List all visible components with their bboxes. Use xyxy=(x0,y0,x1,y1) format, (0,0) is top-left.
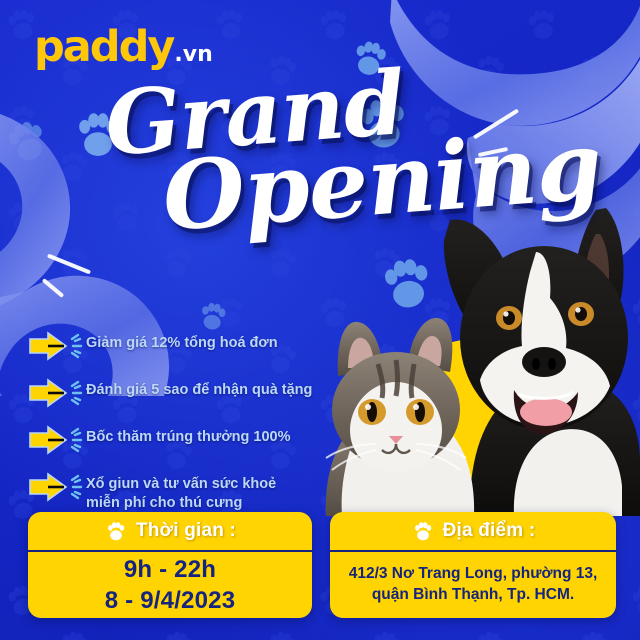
benefit-label: Xổ giun và tư vấn sức khoẻ miễn phí cho … xyxy=(86,471,276,513)
page-title: Grand Opening xyxy=(103,56,543,240)
time-card: Thời gian : 9h - 22h 8 - 9/4/2023 xyxy=(28,512,312,618)
place-card: Địa điểm : 412/3 Nơ Trang Long, phường 1… xyxy=(330,512,616,618)
list-item: Đánh giá 5 sao để nhận quà tặng xyxy=(28,377,348,408)
arrow-sparkle-icon xyxy=(28,331,86,361)
list-item: Xổ giun và tư vấn sức khoẻ miễn phí cho … xyxy=(28,471,348,513)
arrow-sparkle-icon xyxy=(28,378,86,408)
logo-wordmark: paddy xyxy=(34,26,173,69)
poster-canvas: paddy .vn Grand Opening Giảm giá 12% tổn… xyxy=(0,0,640,640)
time-card-title: Thời gian : xyxy=(136,520,236,542)
brand-logo[interactable]: paddy .vn xyxy=(34,26,213,69)
benefit-label: Giảm giá 12% tổng hoá đơn xyxy=(86,330,278,353)
arrow-sparkle-icon xyxy=(28,425,86,455)
address-line-2: quận Bình Thạnh, Tp. HCM. xyxy=(372,586,574,605)
list-item: Giảm giá 12% tổng hoá đơn xyxy=(28,330,348,361)
arrow-sparkle-icon xyxy=(28,472,86,502)
benefits-list: Giảm giá 12% tổng hoá đơn Đánh giá 5 sao… xyxy=(28,330,348,529)
time-hours: 9h - 22h xyxy=(124,555,216,584)
list-item: Bốc thăm trúng thưởng 100% xyxy=(28,424,348,455)
time-card-header: Thời gian : xyxy=(28,512,312,552)
place-card-title: Địa điểm : xyxy=(443,520,536,542)
place-card-body: 412/3 Nơ Trang Long, phường 13, quận Bìn… xyxy=(330,552,616,618)
headline-line-2: Opening xyxy=(160,132,543,237)
paw-icon xyxy=(411,520,435,542)
accent-paw-icon xyxy=(194,298,232,334)
place-card-header: Địa điểm : xyxy=(330,512,616,552)
time-dates: 8 - 9/4/2023 xyxy=(105,586,236,615)
benefit-label: Bốc thăm trúng thưởng 100% xyxy=(86,424,291,447)
benefit-label: Đánh giá 5 sao để nhận quà tặng xyxy=(86,377,312,400)
address-line-1: 412/3 Nơ Trang Long, phường 13, xyxy=(349,565,598,584)
paw-icon xyxy=(104,520,128,542)
time-card-body: 9h - 22h 8 - 9/4/2023 xyxy=(28,552,312,618)
